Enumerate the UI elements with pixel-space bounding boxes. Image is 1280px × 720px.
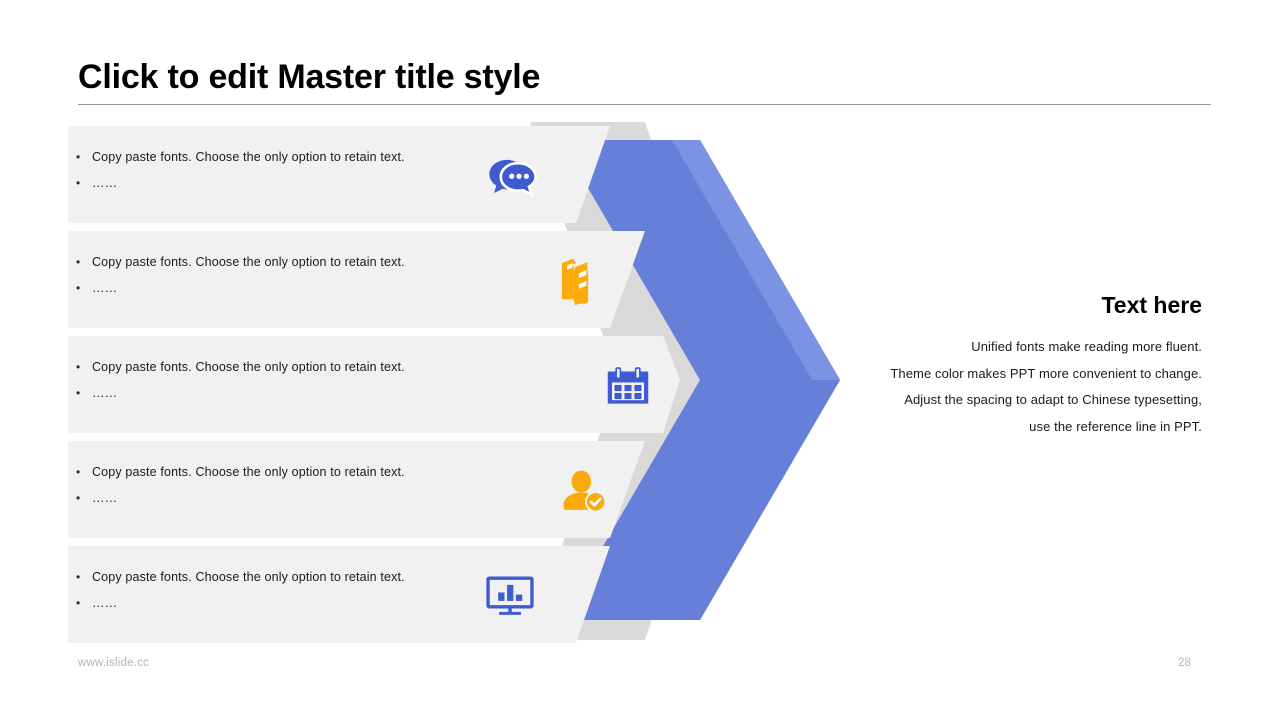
list-item[interactable]: • Copy paste fonts. Choose the only opti… [68, 546, 610, 643]
books-icon [551, 253, 605, 307]
user-verified-icon [556, 463, 610, 517]
chat-bubbles-icon [486, 148, 540, 202]
bullet-line: • Copy paste fonts. Choose the only opti… [76, 354, 496, 380]
bullet-marker-icon: • [76, 485, 92, 511]
bullet-line: • Copy paste fonts. Choose the only opti… [76, 144, 496, 170]
bullet-marker-icon: • [76, 380, 92, 406]
bullet-text: …… [92, 170, 117, 196]
footer-url[interactable]: www.islide.cc [78, 657, 149, 669]
bullet-line: • …… [76, 590, 496, 616]
bullet-marker-icon: • [76, 144, 92, 170]
row-text-block: • Copy paste fonts. Choose the only opti… [76, 564, 496, 616]
row-text-block: • Copy paste fonts. Choose the only opti… [76, 144, 496, 196]
bullet-text: Copy paste fonts. Choose the only option… [92, 564, 405, 590]
bullet-text: Copy paste fonts. Choose the only option… [92, 459, 405, 485]
right-panel-heading[interactable]: Text here [842, 288, 1202, 322]
bullet-marker-icon: • [76, 170, 92, 196]
bullet-text: Copy paste fonts. Choose the only option… [92, 249, 405, 275]
right-panel-line: Theme color makes PPT more convenient to… [842, 361, 1202, 388]
right-text-panel: Text here Unified fonts make reading mor… [842, 288, 1202, 440]
footer-page-number: 28 [1178, 657, 1191, 669]
calendar-icon [601, 358, 655, 412]
right-panel-line: Adjust the spacing to adapt to Chinese t… [842, 387, 1202, 414]
bullet-text: Copy paste fonts. Choose the only option… [92, 144, 405, 170]
bullet-text: …… [92, 380, 117, 406]
list-item[interactable]: • Copy paste fonts. Choose the only opti… [68, 336, 680, 433]
bullet-marker-icon: • [76, 275, 92, 301]
list-item[interactable]: • Copy paste fonts. Choose the only opti… [68, 126, 610, 223]
bullet-line: • …… [76, 380, 496, 406]
bullet-text: …… [92, 590, 117, 616]
bullet-line: • …… [76, 275, 496, 301]
bullet-text: …… [92, 275, 117, 301]
bullet-line: • Copy paste fonts. Choose the only opti… [76, 249, 496, 275]
bullet-marker-icon: • [76, 249, 92, 275]
list-item[interactable]: • Copy paste fonts. Choose the only opti… [68, 441, 645, 538]
row-text-block: • Copy paste fonts. Choose the only opti… [76, 249, 496, 301]
bullet-text: Copy paste fonts. Choose the only option… [92, 354, 405, 380]
bullet-line: • Copy paste fonts. Choose the only opti… [76, 459, 496, 485]
bullet-line: • Copy paste fonts. Choose the only opti… [76, 564, 496, 590]
list-item[interactable]: • Copy paste fonts. Choose the only opti… [68, 231, 645, 328]
right-panel-line: use the reference line in PPT. [842, 414, 1202, 441]
bullet-marker-icon: • [76, 564, 92, 590]
bullet-marker-icon: • [76, 590, 92, 616]
bullet-line: • …… [76, 170, 496, 196]
bullet-line: • …… [76, 485, 496, 511]
row-text-block: • Copy paste fonts. Choose the only opti… [76, 459, 496, 511]
bullet-text: …… [92, 485, 117, 511]
slide-canvas: Click to edit Master title style • Copy … [0, 0, 1280, 720]
monitor-chart-icon [483, 568, 537, 622]
row-text-block: • Copy paste fonts. Choose the only opti… [76, 354, 496, 406]
bullet-marker-icon: • [76, 354, 92, 380]
bullet-marker-icon: • [76, 459, 92, 485]
right-panel-line: Unified fonts make reading more fluent. [842, 334, 1202, 361]
